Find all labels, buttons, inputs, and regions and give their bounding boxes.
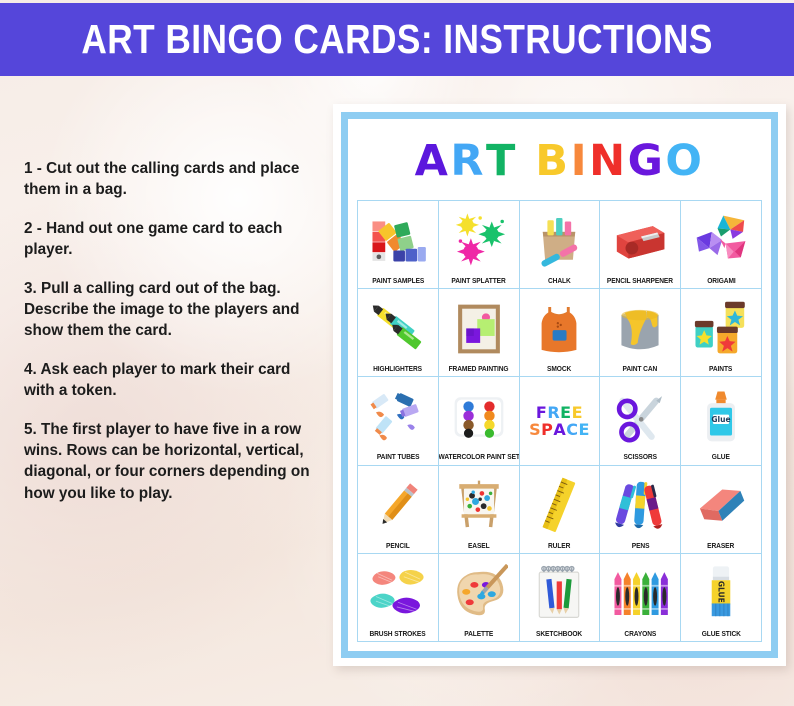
bingo-cell[interactable]: SMOCK	[520, 289, 601, 377]
bingo-cell[interactable]: BRUSH STROKES	[358, 554, 439, 642]
bingo-card: ART BINGO PAINT SAMPLES	[333, 104, 786, 666]
bingo-grid: PAINT SAMPLES PAINT SPLATTER CHALK	[357, 200, 762, 642]
ruler-icon	[522, 469, 598, 542]
brush-strokes-icon	[360, 557, 436, 630]
bingo-cell[interactable]: HIGHLIGHTERS	[358, 289, 439, 377]
bingo-card-title: ART BINGO	[357, 126, 762, 200]
bingo-cell[interactable]: ERASER	[681, 466, 762, 554]
paints-icon	[683, 292, 759, 365]
bingo-cell[interactable]: SCISSORS	[600, 377, 681, 465]
bingo-cell[interactable]: FREESPACE	[520, 377, 601, 465]
instruction-step: 3. Pull a calling card out of the bag. D…	[24, 278, 324, 342]
paint-samples-icon	[360, 204, 436, 277]
highlighters-icon	[360, 292, 436, 365]
paint-splatter-icon	[441, 204, 517, 277]
bingo-cell-label: GLUE	[712, 453, 730, 462]
svg-text:Glue: Glue	[711, 415, 730, 424]
bingo-cell-label: PAINT SPLATTER	[452, 277, 506, 286]
bingo-card-inner: ART BINGO PAINT SAMPLES	[341, 112, 778, 658]
bingo-cell-label: ERASER	[708, 542, 735, 551]
origami-icon	[683, 204, 759, 277]
title-letter	[518, 140, 535, 184]
bingo-cell-label: HIGHLIGHTERS	[373, 365, 422, 374]
bingo-cell-label: FRAMED PAINTING	[449, 365, 509, 374]
bingo-cell-label: BRUSH STROKES	[370, 630, 426, 639]
eraser-icon	[683, 469, 759, 542]
page-title: ART BINGO CARDS: INSTRUCTIONS	[81, 16, 712, 63]
title-letter: I	[571, 140, 590, 184]
bingo-cell-label: PENCIL	[386, 542, 410, 551]
bingo-cell[interactable]: PALETTE	[439, 554, 520, 642]
bingo-cell[interactable]: PENS	[600, 466, 681, 554]
instruction-step: 4. Ask each player to mark their card wi…	[24, 359, 324, 402]
bingo-cell[interactable]: CRAYONS	[600, 554, 681, 642]
bingo-cell[interactable]: PAINTS	[681, 289, 762, 377]
sketchbook-icon	[522, 557, 598, 630]
title-letter: R	[450, 140, 486, 184]
bingo-cell[interactable]: WATERCOLOR PAINT SET	[439, 377, 520, 465]
bingo-cell[interactable]: Glue GLUE	[681, 377, 762, 465]
title-letter: T	[486, 140, 518, 184]
chalk-icon	[522, 204, 598, 277]
bingo-cell[interactable]: CHALK	[520, 201, 601, 289]
bingo-cell[interactable]: PENCIL SHARPENER	[600, 201, 681, 289]
bingo-cell-label: SCISSORS	[624, 453, 657, 462]
bingo-cell[interactable]: FRAMED PAINTING	[439, 289, 520, 377]
title-letter: A	[415, 140, 451, 184]
instructions-list: 1 - Cut out the calling cards and place …	[24, 158, 324, 504]
bingo-cell-label: CHALK	[548, 277, 571, 286]
pencil-icon	[360, 469, 436, 542]
bingo-cell-label: CRAYONS	[624, 630, 656, 639]
title-letter: N	[589, 140, 628, 184]
glue-bottle-icon: Glue	[683, 380, 759, 453]
paint-can-icon	[602, 292, 678, 365]
paint-tubes-icon	[360, 380, 436, 453]
bingo-cell-label: PENCIL SHARPENER	[607, 277, 673, 286]
bingo-cell[interactable]: PAINT SAMPLES	[358, 201, 439, 289]
bingo-cell-label: GLUE STICK	[702, 630, 741, 639]
bingo-cell-label: PAINT SAMPLES	[372, 277, 424, 286]
header-band: ART BINGO CARDS: INSTRUCTIONS	[0, 3, 794, 76]
instruction-step: 2 - Hand out one game card to each playe…	[24, 218, 324, 261]
instruction-step: 5. The first player to have five in a ro…	[24, 419, 324, 505]
pencil-sharpener-icon	[602, 204, 678, 277]
svg-text:GLUE: GLUE	[717, 581, 726, 603]
bingo-cell-label: SKETCHBOOK	[536, 630, 582, 639]
bingo-cell-label: PAINTS	[709, 365, 732, 374]
scissors-icon	[602, 380, 678, 453]
glue-stick-icon: GLUE	[683, 557, 759, 630]
bingo-cell[interactable]: GLUE GLUE STICK	[681, 554, 762, 642]
bingo-cell[interactable]: SKETCHBOOK	[520, 554, 601, 642]
bingo-cell[interactable]: RULER	[520, 466, 601, 554]
bingo-cell[interactable]: ORIGAMI	[681, 201, 762, 289]
palette-icon	[441, 557, 517, 630]
bingo-cell[interactable]: EASEL	[439, 466, 520, 554]
smock-icon	[522, 292, 598, 365]
bingo-cell-label: PAINT CAN	[623, 365, 658, 374]
bingo-cell-label: RULER	[548, 542, 570, 551]
framed-painting-icon	[441, 292, 517, 365]
bingo-cell[interactable]: PENCIL	[358, 466, 439, 554]
bingo-cell-label: EASEL	[468, 542, 490, 551]
bingo-cell-label: PENS	[631, 542, 649, 551]
easel-icon	[441, 469, 517, 542]
bingo-cell-label: SMOCK	[547, 365, 571, 374]
title-letter: B	[535, 140, 570, 184]
pens-icon	[602, 469, 678, 542]
bingo-cell-label: PAINT TUBES	[377, 453, 420, 462]
bingo-cell-label: WATERCOLOR PAINT SET	[439, 453, 520, 462]
bingo-cell-label: ORIGAMI	[707, 277, 735, 286]
free-space-text: FREESPACE	[529, 404, 590, 440]
bingo-cell[interactable]: PAINT SPLATTER	[439, 201, 520, 289]
title-letter: G	[628, 140, 666, 184]
bingo-cell-label: PALETTE	[464, 630, 493, 639]
watercolor-paint-set-icon	[441, 380, 517, 453]
bingo-cell[interactable]: PAINT CAN	[600, 289, 681, 377]
bingo-cell[interactable]: PAINT TUBES	[358, 377, 439, 465]
crayons-icon	[602, 557, 678, 630]
title-letter: O	[665, 140, 704, 184]
free-space: FREESPACE	[522, 380, 598, 462]
instruction-step: 1 - Cut out the calling cards and place …	[24, 158, 324, 201]
